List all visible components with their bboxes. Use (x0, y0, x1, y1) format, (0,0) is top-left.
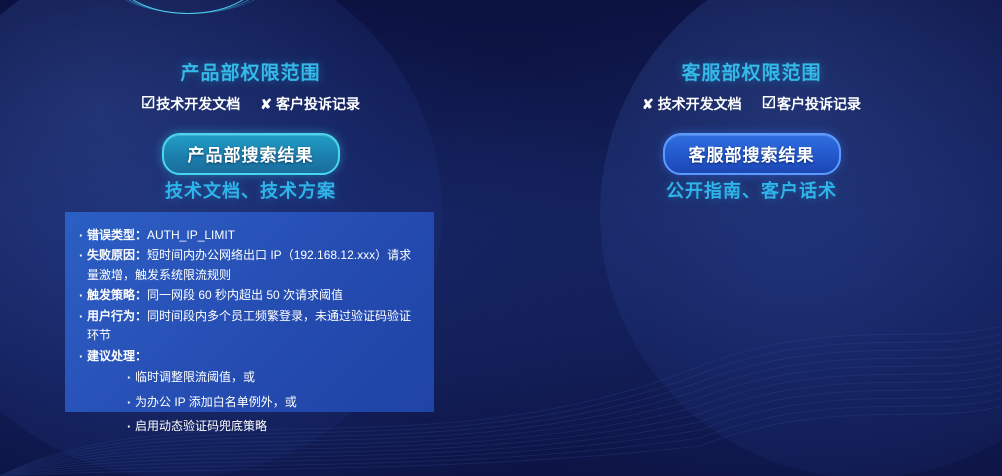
list-item: 失败原因：短时间内办公网络出口 IP（192.168.12.xxx）请求量激增，… (79, 246, 418, 285)
product-permission-complaints: ✘ 客户投诉记录 (260, 94, 360, 114)
product-suggestion-sublist: 临时调整限流阈值，或 为办公 IP 添加白名单例外，或 启用动态验证码兜底策略 (127, 368, 418, 436)
product-result-panel: 错误类型：AUTH_IP_LIMIT 失败原因：短时间内办公网络出口 IP（19… (65, 212, 434, 412)
list-item: 启用动态验证码兜底策略 (127, 417, 418, 436)
cross-denied-icon: ✘ (642, 97, 657, 111)
list-item: 为办公 IP 添加白名单例外，或 (127, 393, 418, 412)
support-section-title: 客服部权限范围 (501, 58, 1002, 85)
support-scope-subtitle: 公开指南、客户话术 (501, 177, 1002, 203)
item-key: 错误类型： (87, 228, 147, 242)
cross-denied-icon: ✘ (260, 97, 275, 111)
product-search-result-pill[interactable]: 产品部搜索结果 (162, 133, 340, 175)
item-key: 失败原因： (87, 248, 147, 262)
item-key: 用户行为： (87, 309, 147, 323)
product-permission-complaints-label: 客户投诉记录 (276, 94, 360, 114)
list-item: 错误类型：AUTH_IP_LIMIT (79, 226, 418, 245)
support-search-result-pill[interactable]: 客服部搜索结果 (663, 133, 841, 175)
item-value: 同一网段 60 秒内超出 50 次请求阈值 (147, 288, 343, 302)
checkbox-checked-icon: ☑ (141, 96, 155, 112)
list-item: 触发策略：同一网段 60 秒内超出 50 次请求阈值 (79, 286, 418, 305)
product-permission-tech-docs-label: 技术开发文档 (156, 94, 240, 114)
item-key: 触发策略： (87, 288, 147, 302)
support-permission-complaints: ☑ 客户投诉记录 (762, 94, 861, 114)
product-department-column: 产品部权限范围 ☑ 技术开发文档 ✘ 客户投诉记录 产品部搜索结果 技术文档、技… (0, 0, 501, 476)
list-item: 用户行为：同时间段内多个员工频繁登录，未通过验证码验证环节 (79, 307, 418, 346)
slide-canvas: 产品部权限范围 ☑ 技术开发文档 ✘ 客户投诉记录 产品部搜索结果 技术文档、技… (0, 0, 1002, 476)
product-result-list: 错误类型：AUTH_IP_LIMIT 失败原因：短时间内办公网络出口 IP（19… (79, 226, 418, 366)
product-permission-row: ☑ 技术开发文档 ✘ 客户投诉记录 (0, 94, 501, 114)
product-scope-subtitle: 技术文档、技术方案 (0, 177, 501, 203)
support-permission-row: ✘ 技术开发文档 ☑ 客户投诉记录 (501, 94, 1002, 114)
item-value: AUTH_IP_LIMIT (147, 228, 235, 242)
item-key: 建议处理： (87, 349, 147, 363)
support-permission-tech-docs-label: 技术开发文档 (658, 94, 742, 114)
list-item: 临时调整限流阈值，或 (127, 368, 418, 387)
support-department-column: 客服部权限范围 ✘ 技术开发文档 ☑ 客户投诉记录 客服部搜索结果 公开指南、客… (501, 0, 1002, 476)
checkbox-checked-icon: ☑ (762, 96, 776, 112)
list-item: 建议处理： (79, 347, 418, 366)
product-section-title: 产品部权限范围 (0, 58, 501, 85)
product-permission-tech-docs: ☑ 技术开发文档 (141, 94, 240, 114)
support-permission-complaints-label: 客户投诉记录 (777, 94, 861, 114)
support-permission-tech-docs: ✘ 技术开发文档 (642, 94, 742, 114)
